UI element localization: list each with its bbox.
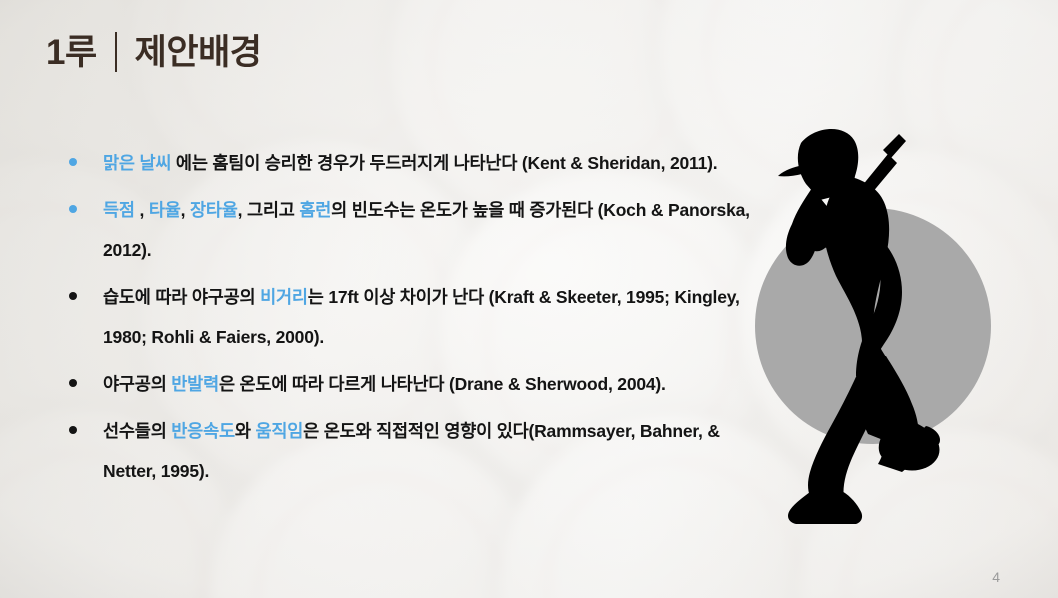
bullet-text: 야구공의 bbox=[103, 374, 171, 394]
bullet-marker-icon bbox=[69, 205, 77, 213]
bullet-marker-icon bbox=[69, 292, 77, 300]
bullet-keyword: 맑은 날씨 bbox=[103, 153, 171, 173]
bullet-keyword: 비거리 bbox=[260, 287, 308, 307]
bullet-text: , bbox=[181, 200, 190, 220]
bullet-item: 습도에 따라 야구공의 비거리는 17ft 이상 차이가 난다 (Kraft &… bbox=[60, 277, 760, 357]
bullet-text: , 그리고 bbox=[238, 200, 300, 220]
baseball-batter-silhouette-icon bbox=[760, 88, 1010, 558]
bullet-text: , bbox=[135, 200, 149, 220]
bullet-item: 야구공의 반발력은 온도에 따라 다르게 나타난다 (Drane & Sherw… bbox=[60, 364, 760, 404]
bullet-text: 습도에 따라 야구공의 bbox=[103, 287, 260, 307]
bullet-text: 와 bbox=[235, 421, 256, 441]
page-number: 4 bbox=[992, 569, 1000, 585]
bullet-keyword: 장타율 bbox=[190, 200, 238, 220]
bullet-keyword: 움직임 bbox=[255, 421, 303, 441]
title-heading: 제안배경 bbox=[135, 35, 262, 70]
slide-title: 1루 제안배경 bbox=[46, 32, 261, 72]
bullet-keyword: 반응속도 bbox=[171, 421, 235, 441]
bullet-text: 선수들의 bbox=[103, 421, 171, 441]
bullet-keyword: 홈런 bbox=[299, 200, 331, 220]
bullet-text: 은 온도에 따라 다르게 나타난다 (Drane & Sherwood, 200… bbox=[219, 374, 666, 394]
bullet-marker-icon bbox=[69, 426, 77, 434]
bullet-text: 에는 홈팀이 승리한 경우가 두드러지게 나타난다 (Kent & Sherid… bbox=[171, 153, 717, 173]
presentation-slide: 1루 제안배경 bbox=[0, 0, 1058, 598]
bullet-item: 맑은 날씨 에는 홈팀이 승리한 경우가 두드러지게 나타난다 (Kent & … bbox=[60, 143, 760, 183]
title-divider-bar bbox=[115, 32, 117, 72]
bullet-keyword: 득점 bbox=[103, 200, 135, 220]
bullet-list: 맑은 날씨 에는 홈팀이 승리한 경우가 두드러지게 나타난다 (Kent & … bbox=[60, 143, 760, 498]
bullet-keyword: 반발력 bbox=[171, 374, 219, 394]
bullet-item: 득점 , 타율, 장타율, 그리고 홈런의 빈도수는 온도가 높을 때 증가된다… bbox=[60, 190, 760, 270]
title-number: 1루 bbox=[46, 35, 97, 70]
bullet-marker-icon bbox=[69, 158, 77, 166]
bullet-keyword: 타율 bbox=[149, 200, 181, 220]
bullet-item: 선수들의 반응속도와 움직임은 온도와 직접적인 영향이 있다(Rammsaye… bbox=[60, 411, 760, 491]
bullet-marker-icon bbox=[69, 379, 77, 387]
